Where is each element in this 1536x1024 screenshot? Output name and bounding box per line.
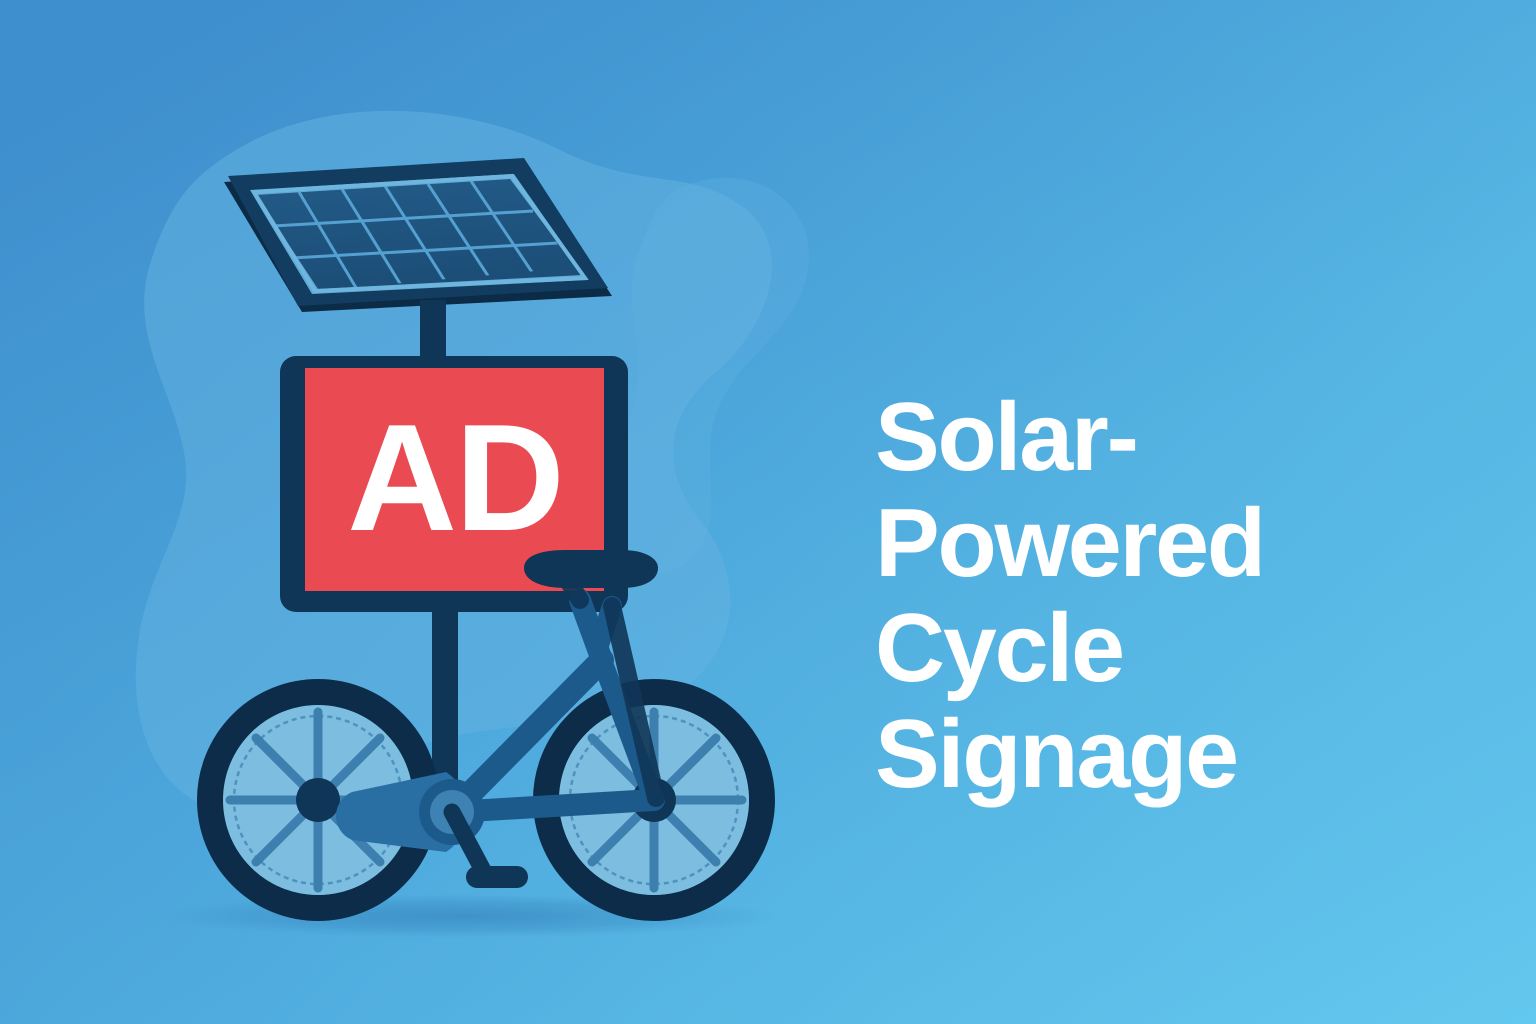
page-title: Solar- Powered Cycle Signage	[875, 384, 1435, 807]
front-wheel-hub	[296, 778, 340, 822]
ad-sign-label: AD	[347, 393, 563, 563]
saddle-body	[524, 550, 658, 588]
solar-powered-cycle-signage-illustration: AD	[0, 0, 860, 1024]
pedal	[466, 866, 528, 888]
solar-panel	[224, 158, 612, 366]
poster-canvas: AD	[0, 0, 1536, 1024]
saddle	[524, 550, 658, 588]
